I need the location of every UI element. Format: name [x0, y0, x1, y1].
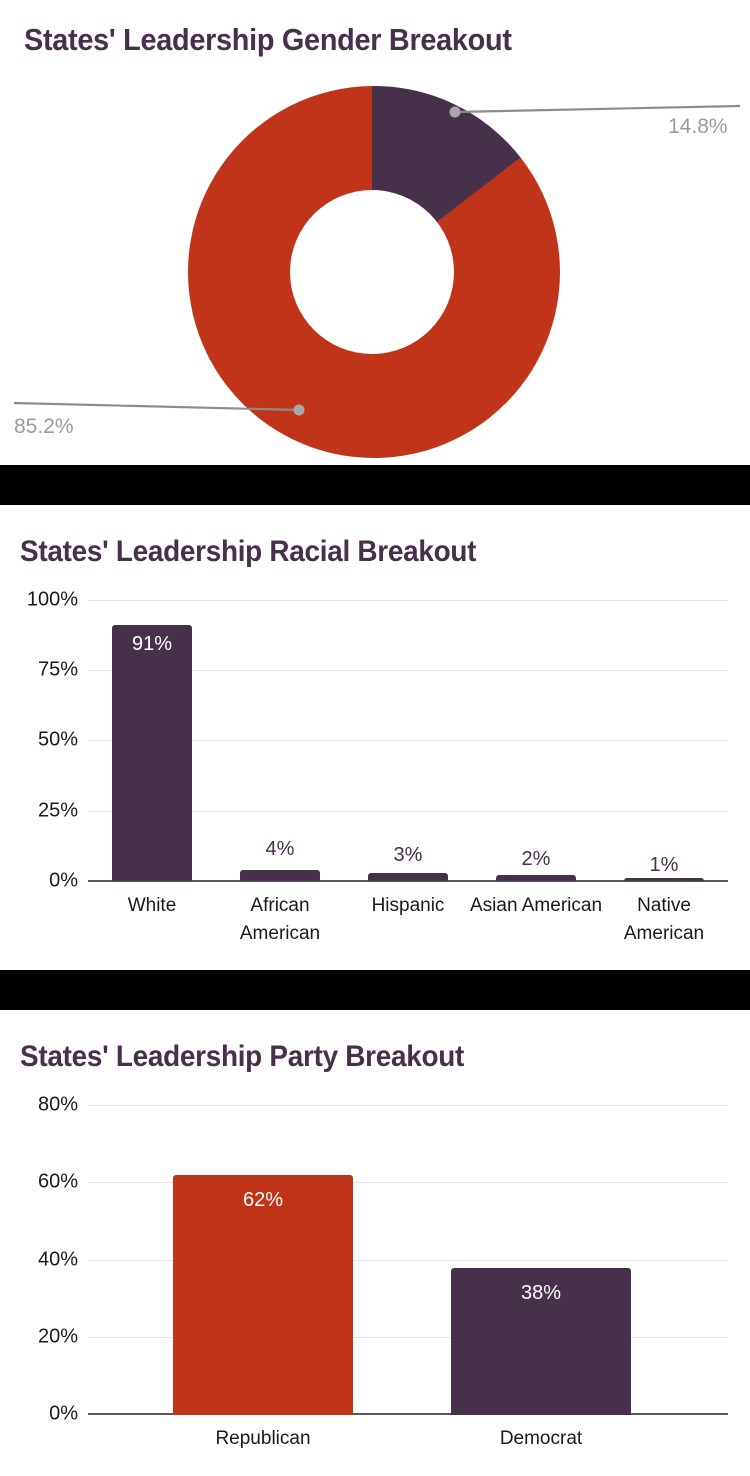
ytick-label-0: 0% [49, 870, 78, 893]
bar-value-republican: 62% [173, 1189, 353, 1212]
gender-donut-chart: 14.8% 85.2% [0, 0, 750, 465]
party-plot-area: 80% 60% 40% 20% 0% 62% 38% Republican De… [88, 1105, 728, 1415]
leader-line-female [455, 106, 740, 112]
bar-democrat[interactable]: 38% [451, 1268, 631, 1415]
ytick-label-50: 50% [38, 729, 78, 752]
party-breakout-panel: States' Leadership Party Breakout 80% 60… [0, 1010, 750, 1476]
bar-native-american[interactable]: 1% [624, 878, 704, 881]
ytick-label-75: 75% [38, 659, 78, 682]
gridline-100 [88, 600, 728, 601]
bar-african-american[interactable]: 4% [240, 870, 320, 881]
party-bar-chart: 80% 60% 40% 20% 0% 62% 38% Republican De… [0, 1010, 750, 1476]
bar-value-african-american: 4% [240, 838, 320, 861]
gridline-80 [88, 1105, 728, 1106]
ytick-label-20: 20% [38, 1326, 78, 1349]
infographic-page: States' Leadership Gender Breakout 14.8%… [0, 0, 750, 1476]
xtick-label-hispanic: Hispanic [342, 892, 474, 920]
bar-asian-american[interactable]: 2% [496, 875, 576, 881]
leader-dot-male [294, 405, 305, 416]
bar-white[interactable]: 91% [112, 625, 192, 881]
section-divider-1 [0, 465, 750, 505]
xtick-label-native-american: Native American [598, 892, 730, 948]
racial-breakout-panel: States' Leadership Racial Breakout 100% … [0, 505, 750, 970]
ytick-label-80: 80% [38, 1094, 78, 1117]
bar-value-white: 91% [112, 633, 192, 656]
xtick-label-white: White [86, 892, 218, 920]
gender-breakout-panel: States' Leadership Gender Breakout 14.8%… [0, 0, 750, 465]
racial-bar-chart: 100% 75% 50% 25% 0% 91% 4% 3% 2% [0, 505, 750, 970]
xtick-label-asian-american: Asian American [470, 892, 602, 920]
donut-svg [0, 0, 750, 465]
ytick-label-60: 60% [38, 1171, 78, 1194]
leader-dot-female [450, 107, 461, 118]
bar-value-democrat: 38% [451, 1282, 631, 1305]
bar-republican[interactable]: 62% [173, 1175, 353, 1415]
bar-hispanic[interactable]: 3% [368, 873, 448, 881]
ytick-label-0: 0% [49, 1403, 78, 1426]
bar-value-asian-american: 2% [496, 848, 576, 871]
ytick-label-100: 100% [27, 589, 78, 612]
bar-value-native-american: 1% [624, 854, 704, 877]
donut-hole [290, 190, 454, 354]
donut-value-label-male: 85.2% [14, 415, 74, 439]
xtick-label-african-american: African American [214, 892, 346, 948]
bar-value-hispanic: 3% [368, 844, 448, 867]
racial-plot-area: 100% 75% 50% 25% 0% 91% 4% 3% 2% [88, 600, 728, 881]
donut-value-label-female: 14.8% [668, 115, 728, 139]
xtick-label-democrat: Democrat [381, 1425, 701, 1453]
xtick-label-republican: Republican [103, 1425, 423, 1453]
ytick-label-40: 40% [38, 1249, 78, 1272]
section-divider-2 [0, 970, 750, 1010]
ytick-label-25: 25% [38, 800, 78, 823]
